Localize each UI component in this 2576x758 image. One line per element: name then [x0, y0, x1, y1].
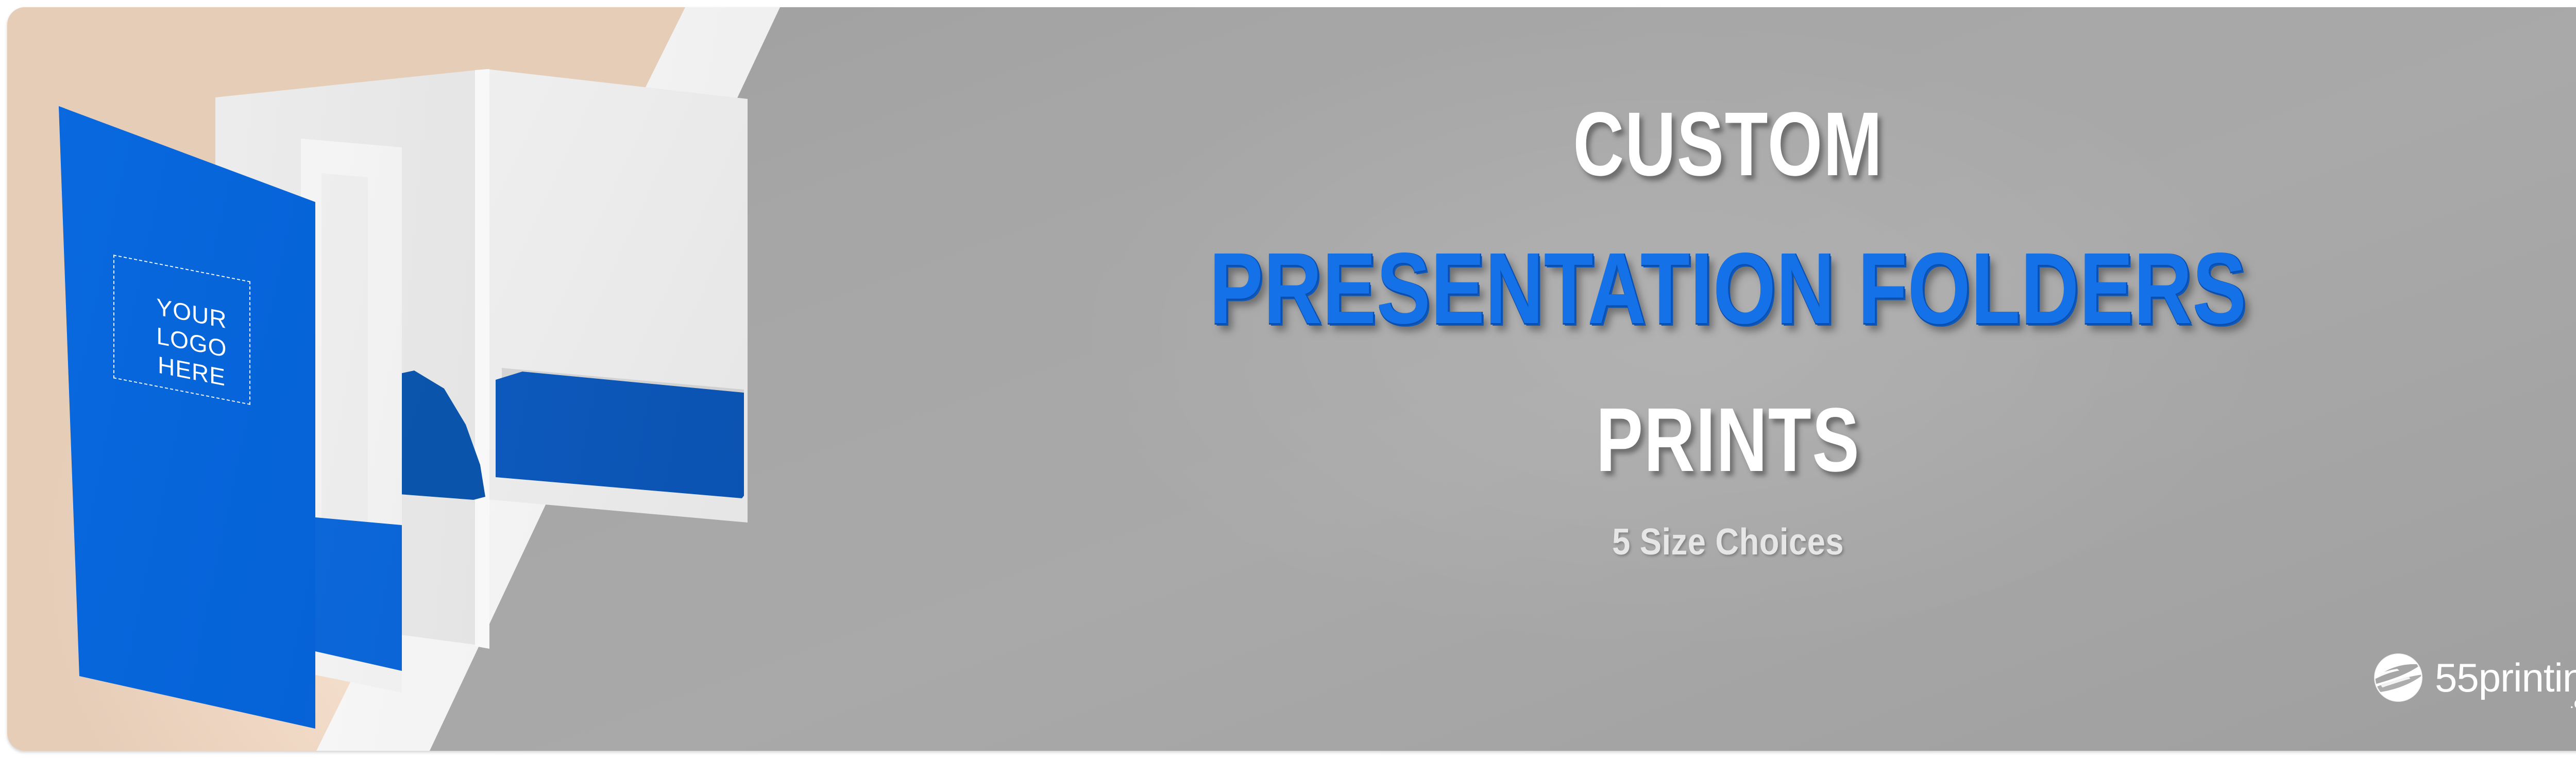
globe-brushstroke-icon	[2371, 650, 2426, 705]
presentation-folder-mockup: YOUR LOGO HERE	[7, 7, 780, 751]
brand-name-secondary: printing	[2479, 655, 2576, 700]
headline-line-custom: CUSTOM	[1013, 99, 2444, 190]
headline-line-presentation-folders: PRESENTATION FOLDERS	[994, 238, 2462, 339]
brand-wordmark: 55printing .com	[2435, 658, 2576, 698]
promo-banner: YOUR LOGO HERE CUSTOM PRESENTATION FOLDE…	[0, 0, 2576, 758]
banner-canvas: YOUR LOGO HERE CUSTOM PRESENTATION FOLDE…	[7, 7, 2576, 751]
headline-line-prints: PRINTS	[1013, 395, 2444, 485]
brand-name-primary: 55	[2435, 655, 2479, 700]
headline-subtitle: 5 Size Choices	[921, 524, 2535, 561]
headline-block: CUSTOM PRESENTATION FOLDERS PRINTS 5 Siz…	[811, 7, 2576, 751]
brand-tld: .com	[2570, 696, 2576, 711]
brand-logo[interactable]: 55printing .com	[2371, 650, 2576, 705]
logo-placeholder-text: YOUR LOGO HERE	[145, 290, 238, 395]
